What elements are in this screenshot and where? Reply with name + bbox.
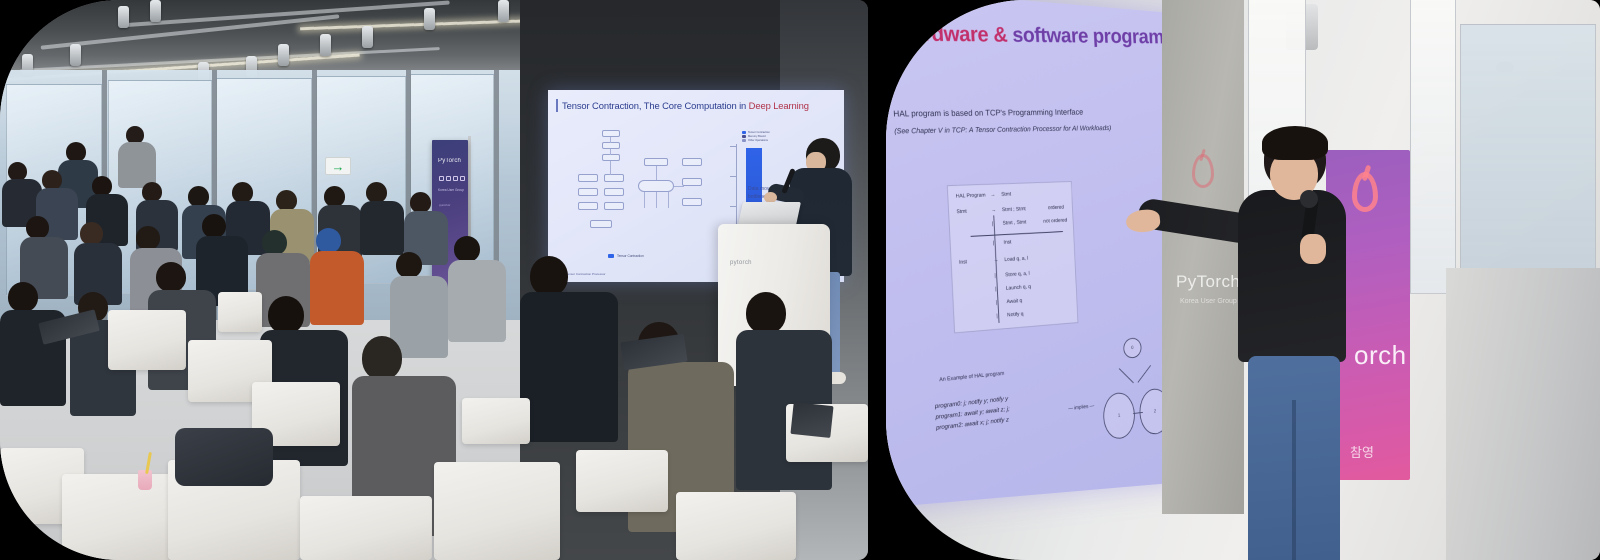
tablet-device	[790, 402, 833, 438]
grammar-rhs: Stmt ; Stmt	[1002, 206, 1026, 213]
seat-cube	[218, 292, 262, 332]
slide-body-line-2: (See Chapter V in TCP: A Tensor Contract…	[894, 120, 1190, 139]
grammar-lhs: Stmt	[956, 209, 967, 215]
banner-square-icon	[446, 176, 451, 181]
implies-annotation: — implies —	[1068, 403, 1094, 412]
legend-item: Memory Bound	[742, 135, 770, 138]
grammar-rhs: Notify q	[1007, 311, 1024, 318]
slide-title-lead: Tensor Contraction, The Core Computation…	[562, 100, 749, 111]
microphone-head-icon	[1300, 190, 1318, 208]
seat-cube	[576, 450, 668, 512]
legend-item: Other Operations	[742, 139, 770, 142]
ceiling-spotlight	[424, 8, 435, 30]
example-label: An Example of HAL program	[939, 371, 1004, 383]
slide-title-part2: software programming interfaces	[1012, 23, 1186, 49]
legend-label: Tensor Contraction	[748, 131, 770, 134]
grammar-arrow: →	[991, 208, 996, 214]
exit-arrow-icon: →	[332, 160, 345, 173]
grammar-note: ordered	[1048, 205, 1064, 211]
title-accent-bar	[556, 99, 558, 112]
ceiling-spotlight	[362, 26, 373, 48]
banner-footnote: pytorch.kr	[439, 204, 450, 207]
banner-subtitle: Korea User Group	[438, 188, 464, 192]
grammar-divider	[971, 231, 1063, 237]
right-speaker-mic-hand	[1300, 234, 1326, 264]
slide-body: HAL program is based on TCP's Programmin…	[893, 104, 1190, 139]
photo-collage: → PyTorch Korea User Group pytorch.kr Te…	[0, 0, 1600, 560]
seat-cube	[462, 398, 530, 444]
banner-logo-text: orch	[1354, 340, 1407, 371]
left-photo: → PyTorch Korea User Group pytorch.kr Te…	[0, 0, 868, 560]
legend-label: Tensor Contraction	[617, 254, 644, 258]
seat-cube	[300, 496, 432, 560]
grammar-arrow: →	[990, 192, 995, 198]
legend-label: Other Operations	[748, 139, 768, 142]
graph-node: 0	[1123, 337, 1142, 359]
window-panel	[1410, 0, 1456, 294]
banner-square-icon	[439, 176, 444, 181]
podium-logo-text: pytorch	[730, 260, 752, 266]
legend-swatch	[742, 139, 746, 142]
grammar-lhs: HAL Program	[956, 193, 986, 200]
chart-legend: Tensor Contraction Memory Bound Other Op…	[742, 131, 770, 143]
seat-cube	[434, 462, 560, 560]
slide-footer: Tensor Contraction Processor	[566, 272, 606, 276]
seat-cube	[676, 492, 796, 560]
legend-label: Memory Bound	[748, 135, 766, 138]
grammar-rhs: Await q	[1006, 298, 1022, 305]
backpack	[175, 428, 273, 486]
banner-square-icon	[460, 176, 465, 181]
banner-logo-text: PyTorch	[438, 158, 461, 164]
ceiling-spotlight	[150, 0, 161, 22]
pillar-logo-text: PyTorch	[1176, 272, 1240, 292]
pytorch-flame-icon	[1192, 154, 1214, 188]
ceiling-spotlight	[118, 6, 129, 28]
grammar-rhs: Stmt	[1001, 192, 1011, 198]
pytorch-flame-icon	[1352, 172, 1378, 212]
banner-icon-row	[439, 176, 465, 181]
grammar-rhs: Store q, a, l	[1005, 271, 1030, 278]
graph-node: 1	[1102, 391, 1136, 441]
ceiling-spotlight	[70, 44, 81, 66]
ceiling-spotlight	[498, 0, 509, 22]
legend-swatch	[608, 254, 614, 258]
exit-sign: →	[325, 157, 351, 175]
slide-title-left: Tensor Contraction, The Core Computation…	[562, 100, 836, 111]
right-speaker-hair	[1262, 126, 1328, 160]
slide-diagram	[572, 128, 712, 256]
ceiling-spotlight	[278, 44, 289, 66]
banner-korean-text: 참영	[1350, 442, 1374, 461]
window-panel	[1460, 24, 1596, 274]
right-photo: Hardware & software programming interfac…	[886, 0, 1600, 560]
ceiling-spotlight	[320, 34, 331, 56]
legend-swatch	[742, 135, 746, 138]
pillar-subtitle: Korea User Group	[1180, 298, 1237, 305]
program-listing: program0: j; notify y; notify y program1…	[935, 393, 1011, 434]
slide-title-right: Hardware & software programming interfac…	[897, 21, 1185, 50]
slide-title-accent: Deep Learning	[749, 100, 809, 111]
slide-bottom-legend: Tensor Contraction	[608, 254, 644, 258]
right-speaker-leg-seam	[1292, 400, 1296, 560]
grammar-rhs: Load q, a, l	[1004, 256, 1028, 263]
banner-square-icon	[453, 176, 458, 181]
grammar-rhs: Stmt , Stmt	[1003, 220, 1027, 227]
seat-cube	[108, 310, 186, 370]
dependency-graph: 0 1 2	[1098, 335, 1171, 445]
grammar-block: HAL Program → Stmt Stmt → Stmt ; Stmt or…	[947, 181, 1079, 333]
grammar-rhs: Inst	[1003, 240, 1011, 246]
grammar-rhs: Launch q, q	[1006, 284, 1031, 291]
slide-title-amp: &	[988, 22, 1013, 46]
counter-desk	[1446, 268, 1600, 560]
grammar-lhs: Inst	[959, 259, 967, 265]
slide-title-part1: Hardware	[897, 21, 989, 47]
legend-swatch	[742, 131, 746, 134]
pytorch-pillar: PyTorch Korea User Group	[1162, 0, 1244, 514]
right-speaker-body	[1238, 190, 1346, 362]
legend-item: Tensor Contraction	[742, 131, 770, 134]
grammar-note: not ordered	[1043, 218, 1067, 225]
